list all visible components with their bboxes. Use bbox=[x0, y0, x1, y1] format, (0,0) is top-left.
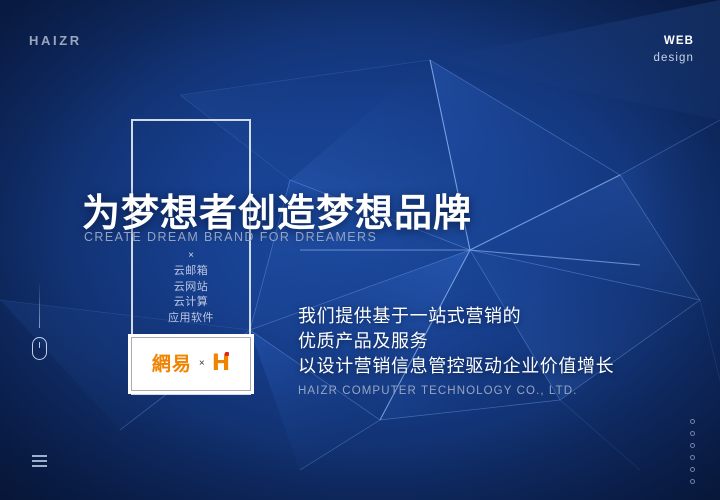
partner-card[interactable]: 網易 × H bbox=[128, 334, 254, 394]
hamburger-bar-1 bbox=[32, 455, 47, 457]
tagline-line-1: WEB bbox=[654, 33, 695, 50]
pagination-dots[interactable] bbox=[690, 419, 695, 484]
hamburger-menu-icon[interactable] bbox=[32, 455, 47, 467]
pagination-dot[interactable] bbox=[690, 431, 695, 436]
menu-item-cloud-computing[interactable]: 云计算 bbox=[131, 295, 251, 311]
hero-subheadline: CREATE DREAM BRAND FOR DREAMERS bbox=[84, 230, 377, 244]
pagination-dot[interactable] bbox=[690, 443, 695, 448]
vignette-overlay bbox=[0, 0, 720, 500]
hamburger-bar-2 bbox=[32, 460, 47, 462]
menu-item-cloud-website[interactable]: 云网站 bbox=[131, 280, 251, 296]
tagline-line-2: design bbox=[654, 50, 695, 67]
pagination-dot[interactable] bbox=[690, 467, 695, 472]
menu-item-cloud-mail[interactable]: 云邮箱 bbox=[131, 264, 251, 280]
cross-icon: × bbox=[131, 250, 251, 261]
hamburger-bar-3 bbox=[32, 465, 47, 467]
copy-line-3: 以设计营销信息管控驱动企业价值增长 bbox=[298, 354, 614, 379]
low-poly-background bbox=[0, 0, 720, 500]
pagination-dot[interactable] bbox=[690, 479, 695, 484]
service-menu: 云邮箱 云网站 云计算 应用软件 bbox=[131, 264, 251, 326]
hero-banner: HAIZR WEB design 为梦想者创造梦想品牌 CREATE DREAM… bbox=[0, 0, 720, 500]
copy-line-2: 优质产品及服务 bbox=[298, 329, 614, 354]
hero-headline: 为梦想者创造梦想品牌 bbox=[82, 182, 472, 237]
web-design-tagline: WEB design bbox=[654, 33, 695, 66]
partner-separator-icon: × bbox=[199, 359, 205, 369]
netease-logo: 網易 bbox=[152, 355, 192, 374]
haizr-mark-icon: H bbox=[212, 353, 230, 375]
mouse-scroll-icon[interactable] bbox=[32, 337, 47, 360]
company-name: HAIZR COMPUTER TECHNOLOGY CO., LTD. bbox=[298, 385, 614, 397]
brand-logo[interactable]: HAIZR bbox=[29, 33, 82, 48]
scroll-rail-line bbox=[39, 284, 40, 328]
copy-line-1: 我们提供基于一站式营销的 bbox=[298, 304, 614, 329]
pagination-dot[interactable] bbox=[690, 419, 695, 424]
pagination-dot[interactable] bbox=[690, 455, 695, 460]
menu-item-applications[interactable]: 应用软件 bbox=[131, 311, 251, 327]
body-copy: 我们提供基于一站式营销的 优质产品及服务 以设计营销信息管控驱动企业价值增长 H… bbox=[298, 304, 614, 397]
